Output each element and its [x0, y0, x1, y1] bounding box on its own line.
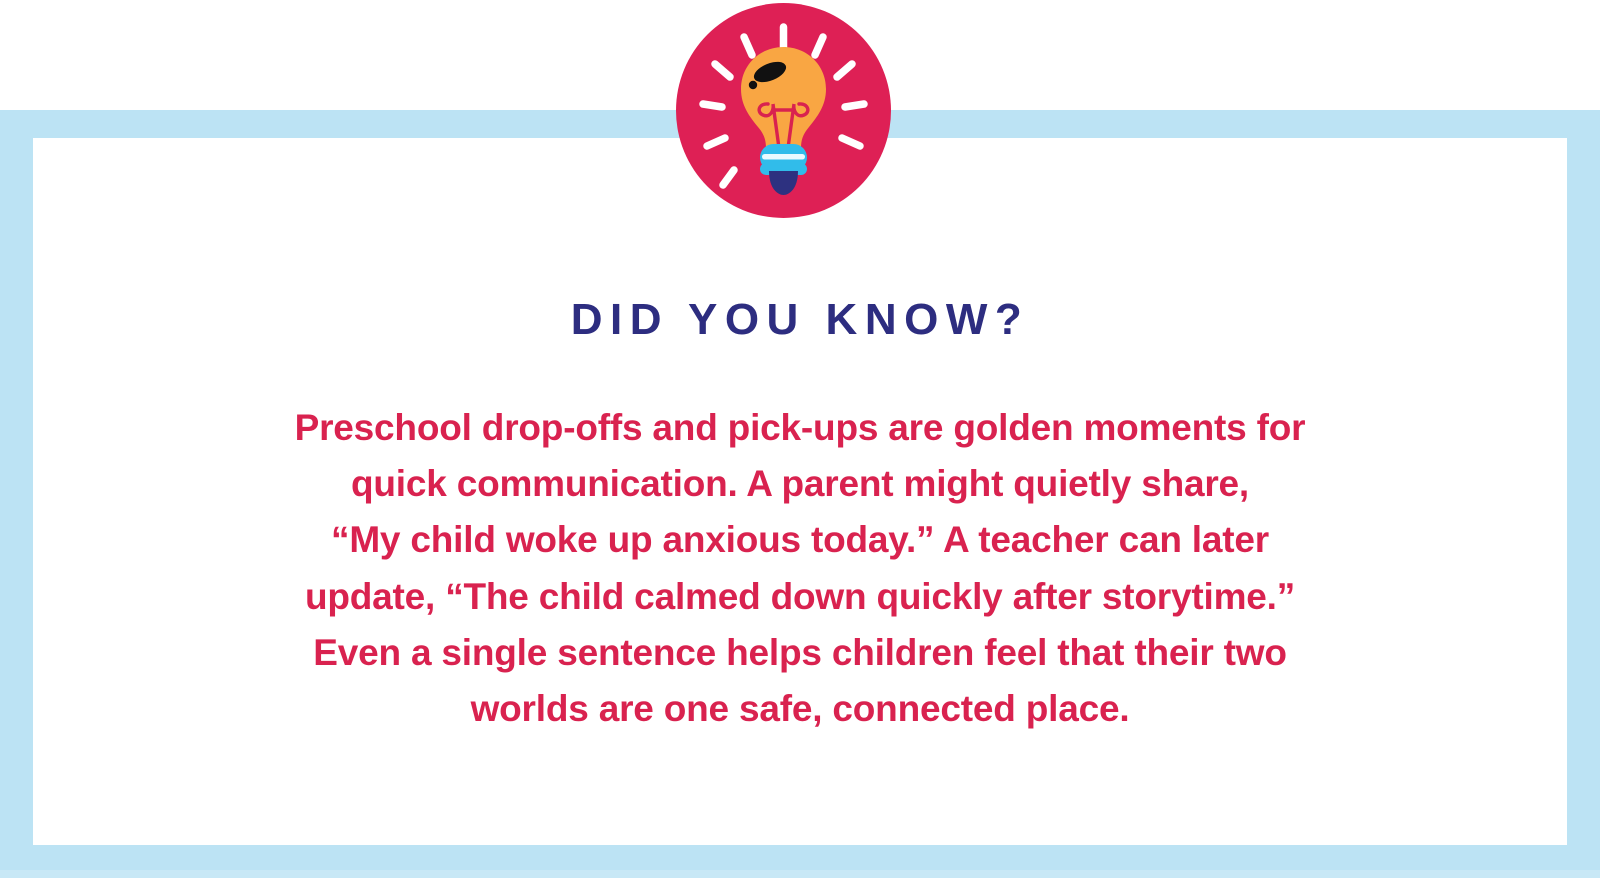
- card-content: DID YOU KNOW? Preschool drop-offs and pi…: [33, 138, 1567, 845]
- body-line: Preschool drop-offs and pick-ups are gol…: [295, 407, 1306, 448]
- body-line: “My child woke up anxious today.” A teac…: [331, 519, 1269, 560]
- bulb-base-highlight: [762, 154, 805, 160]
- did-you-know-card: DID YOU KNOW? Preschool drop-offs and pi…: [0, 0, 1600, 878]
- body-line: Even a single sentence helps children fe…: [313, 632, 1286, 673]
- page-title: DID YOU KNOW?: [571, 298, 1029, 342]
- blue-frame-bottom-strip: [0, 870, 1600, 878]
- body-line: worlds are one safe, connected place.: [471, 688, 1130, 729]
- body-line: update, “The child calmed down quickly a…: [305, 576, 1295, 617]
- body-line: quick communication. A parent might quie…: [351, 463, 1249, 504]
- bulb-highlight-dot: [749, 81, 757, 89]
- lightbulb-badge: [676, 3, 891, 218]
- body-text: Preschool drop-offs and pick-ups are gol…: [200, 400, 1400, 737]
